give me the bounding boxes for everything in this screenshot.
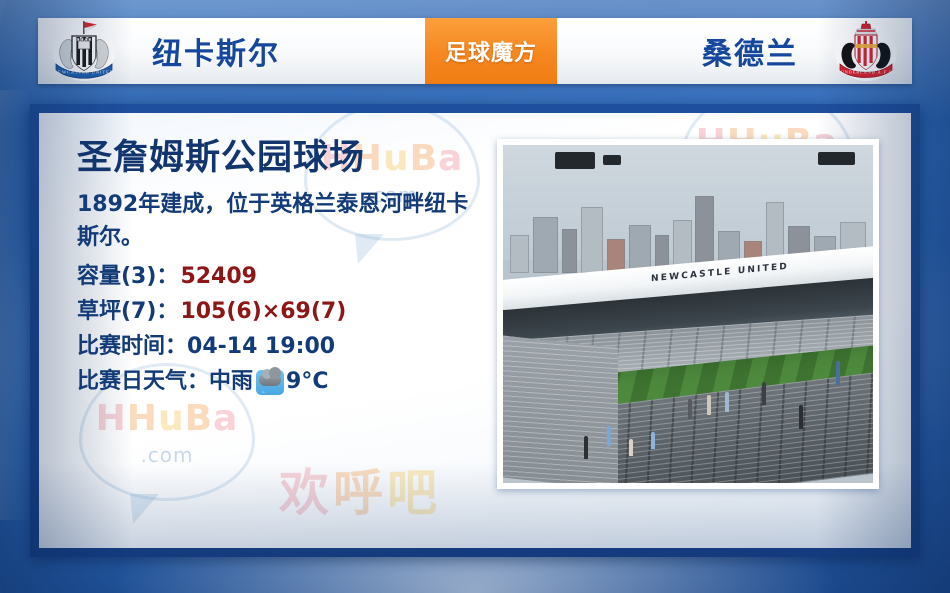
photo-spectator [725,392,729,412]
photo-floodlight-left [555,152,596,169]
weather-condition: 中雨 [209,365,253,400]
photo-spectator [607,426,611,446]
svg-text:NEWCASTLE UNITED: NEWCASTLE UNITED [54,70,114,75]
photo-spectator [629,439,633,456]
watermark-domain-text: .com [140,443,193,467]
photo-spectator [707,395,711,415]
watermark-brand-text: HHuBa [96,398,239,439]
capacity-value: 52409 [180,260,257,295]
watermark-cheer-text: 欢呼吧 [279,453,441,525]
photo-spectator [836,361,840,385]
capacity-separator: ： [156,260,178,295]
photo-spectator [584,436,588,460]
stadium-photo-frame: NEWCASTLE UNITED [497,139,879,489]
home-team-name: 纽卡斯尔 [118,29,425,73]
stadium-title: 圣詹姆斯公园球场 [77,139,481,178]
capacity-label: 容量(3) [77,260,156,295]
pitch-row: 草坪(7) ： 105(6)×69(7) [77,295,481,330]
pitch-value: 105(6)×69(7) [180,295,346,330]
weather-temperature: 9°C [286,365,328,400]
weather-separator: ： [187,365,209,400]
brand-logo-text: 足球魔方 [445,35,537,67]
pitch-separator: ： [156,295,178,330]
match-header-bar: NEWCASTLE UNITED 纽卡斯尔 足球魔方 桑德兰 [38,18,912,84]
rain-cloud-icon [256,370,284,395]
photo-spectator [651,432,655,449]
stadium-info-column: 圣詹姆斯公园球场 1892年建成，位于英格兰泰恩河畔纽卡斯尔。 容量(3) ： … [77,139,481,399]
stadium-description: 1892年建成，位于英格兰泰恩河畔纽卡斯尔。 [77,188,481,255]
away-team-name: 桑德兰 [557,29,832,73]
weather-row: 比赛日天气 ： 中雨 9°C [77,365,481,400]
stadium-photo: NEWCASTLE UNITED [503,145,873,483]
stadium-info-panel: HHuBa .com HHuBa .com HHuBa .com 欢呼吧 [30,104,920,557]
background-left-edge [0,90,30,520]
kickoff-row: 比赛时间 ： 04-14 19:00 [77,330,481,365]
svg-text:SUNDERLAND A.F.C.: SUNDERLAND A.F.C. [837,70,894,75]
photo-spectator [799,405,803,429]
app-root: NEWCASTLE UNITED 纽卡斯尔 足球魔方 桑德兰 [0,0,950,593]
weather-label: 比赛日天气 [77,365,187,400]
photo-left-seating [503,334,618,483]
newcastle-united-crest: NEWCASTLE UNITED [50,20,118,82]
kickoff-value: 04-14 19:00 [187,330,335,365]
pitch-label: 草坪(7) [77,295,156,330]
photo-floodlight-mid [603,155,622,165]
sunderland-crest: SUNDERLAND A.F.C. [832,20,900,82]
brand-logo[interactable]: 足球魔方 [425,18,557,84]
photo-spectator [688,399,692,419]
photo-floodlight-right [818,152,855,166]
kickoff-separator: ： [165,330,187,365]
kickoff-label: 比赛时间 [77,330,165,365]
photo-spectator [762,382,766,406]
stadium-info-panel-inner: HHuBa .com HHuBa .com HHuBa .com 欢呼吧 [39,113,911,548]
capacity-row: 容量(3) ： 52409 [77,260,481,295]
